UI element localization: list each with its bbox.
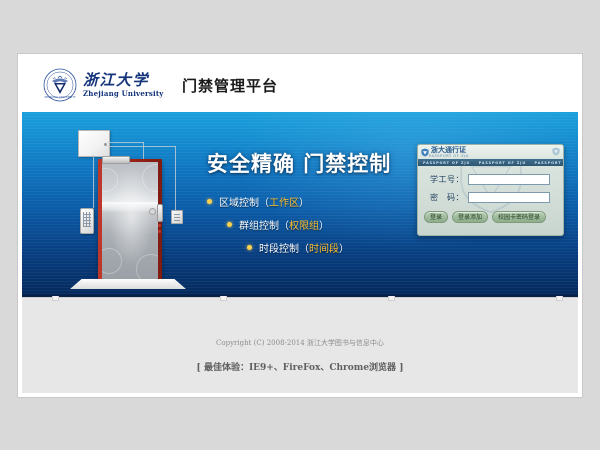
footer-tab-marker [388, 296, 395, 301]
feature-label: 群组控制（ [239, 217, 289, 232]
footer-tab-marker [52, 296, 59, 301]
keypad-reader-icon [80, 208, 94, 234]
login-title-group: 浙大通行证 PASSPORT OF ZJU [429, 147, 469, 158]
floor-platform [70, 279, 186, 289]
door-pattern-swirl [102, 248, 122, 274]
login-subtitle: PASSPORT OF ZJU [429, 154, 469, 158]
svg-text:ZHEJIANG UNIVERSITY: ZHEJIANG UNIVERSITY [44, 96, 76, 99]
bullet-dot-icon [247, 245, 252, 250]
feature-label: 时段控制（ [259, 240, 309, 255]
bullet-dot-icon [227, 222, 232, 227]
feature-item-group-control: 群组控制（权限组） [227, 217, 417, 232]
feature-list: 区域控制（工作区） 群组控制（权限组） 时段控制（时间段） [207, 194, 417, 255]
slogan-text: 安全精确 门禁控制 [207, 148, 417, 178]
campus-card-login-button[interactable]: 校园卡密码登录 [492, 211, 546, 223]
door-access-control-illustration [64, 124, 194, 294]
wire-card-vertical [175, 146, 176, 210]
brand-en-name: Zhejiang University [83, 89, 164, 98]
footer-tab-marker [220, 296, 227, 301]
wire-controller-to-card-h [108, 146, 176, 147]
brand-wordmark: 浙江大学 Zhejiang University [83, 72, 164, 98]
passport-repeat-band: PASSPORT OF ZJU PASSPORT OF ZJU PASSPORT… [418, 159, 563, 166]
login-panel-header: 浙大通行证 PASSPORT OF ZJU [418, 145, 563, 160]
hero-banner: 安全精确 门禁控制 区域控制（工作区） 群组控制（权限组） 时段控制（时间段） [22, 112, 578, 297]
wire-controller-to-reader-h [108, 142, 144, 143]
footer-copyright: Copyright (C) 2008-2014 浙江大学图书与信息中心 [22, 338, 578, 348]
login-add-button[interactable]: 登录添加 [452, 211, 488, 223]
door-closer-icon [102, 156, 130, 164]
username-input[interactable] [468, 174, 550, 185]
login-button[interactable]: 登录 [424, 211, 448, 223]
page-content-card: ZHEJIANG UNIVERSITY 浙江大学 Zhejiang Univer… [22, 58, 578, 393]
door-leaf [102, 162, 158, 280]
site-footer: Copyright (C) 2008-2014 浙江大学图书与信息中心 [ 最佳… [22, 297, 578, 393]
platform-title: 门禁管理平台 [182, 75, 278, 96]
username-label: 学工号： [424, 174, 464, 185]
footer-tab-markers [22, 298, 578, 302]
card-reader-icon [171, 210, 183, 224]
controller-led-icon [104, 143, 107, 146]
feature-tail: ） [319, 217, 329, 232]
bullet-dot-icon [207, 199, 212, 204]
wire-controller-to-keypad [93, 155, 94, 208]
site-header: ZHEJIANG UNIVERSITY 浙江大学 Zhejiang Univer… [22, 58, 578, 112]
feature-item-area-control: 区域控制（工作区） [207, 194, 417, 209]
password-input[interactable] [468, 192, 550, 203]
login-button-row: 登录 登录添加 校园卡密码登录 [424, 211, 557, 223]
password-label: 密 码： [424, 192, 464, 203]
feature-item-time-control: 时段控制（时间段） [247, 240, 417, 255]
door-handle-icon [157, 204, 163, 222]
feature-highlight: 工作区 [269, 194, 299, 209]
footer-tab-marker [556, 296, 563, 301]
access-controller-box-icon [78, 130, 110, 157]
door-pattern-swirl [136, 254, 158, 280]
keypad-keys-icon [83, 212, 91, 227]
door-knob-icon [149, 208, 156, 215]
passport-band-text: PASSPORT OF ZJU PASSPORT OF ZJU PASSPORT… [423, 160, 563, 165]
door-status-indicator-icon [158, 224, 161, 227]
red-framed-door [98, 159, 162, 283]
card-reader-slot-icon [174, 214, 180, 215]
login-title: 浙大通行证 [431, 147, 469, 154]
slogan-block: 安全精确 门禁控制 区域控制（工作区） 群组控制（权限组） 时段控制（时间段） [207, 148, 417, 271]
footer-browser-note: [ 最佳体验：IE9+、FireFox、Chrome浏览器 ] [22, 360, 578, 373]
brand-cn-name: 浙江大学 [83, 72, 164, 88]
feature-tail: ） [299, 194, 309, 209]
feature-highlight: 权限组 [289, 217, 319, 232]
brand-logo: ZHEJIANG UNIVERSITY 浙江大学 Zhejiang Univer… [43, 68, 164, 102]
door-pattern-swirl [102, 168, 118, 192]
shield-icon [421, 148, 429, 157]
door-pattern-swirl [142, 164, 158, 192]
shield-icon-right [552, 147, 560, 156]
feature-tail: ） [339, 240, 349, 255]
zhejiang-university-seal-icon: ZHEJIANG UNIVERSITY [43, 68, 77, 102]
feature-highlight: 时间段 [309, 240, 339, 255]
feature-label: 区域控制（ [219, 194, 269, 209]
password-row: 密 码： [424, 192, 557, 203]
page-frame: ZHEJIANG UNIVERSITY 浙江大学 Zhejiang Univer… [17, 53, 583, 398]
login-panel: 浙大通行证 PASSPORT OF ZJU PASSPORT OF ZJU PA… [417, 144, 564, 236]
username-row: 学工号： [424, 174, 557, 185]
